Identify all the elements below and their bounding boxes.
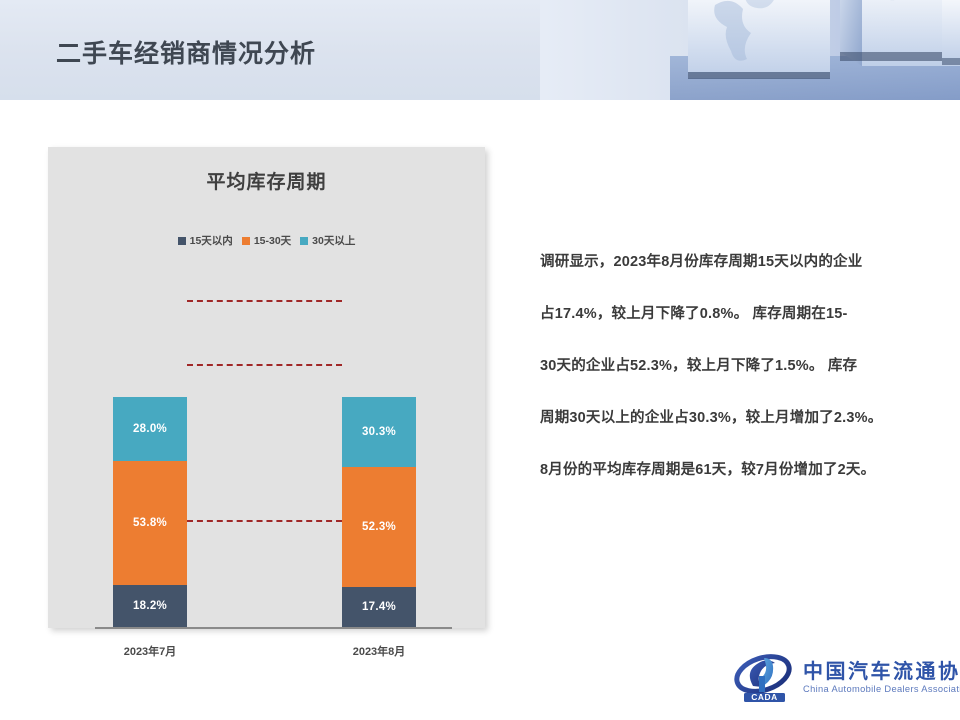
segment-within-15-days-2023-07[interactable]: 18.2% [113, 585, 187, 627]
cada-emblem-icon: CADA [733, 652, 795, 704]
x-axis-line [95, 627, 452, 629]
narrative-line-2: 占17.4%，较上月下降了0.8%。 库存周期在15- [540, 300, 940, 328]
x-axis-label-2023-08: 2023年8月 [309, 643, 449, 659]
connector-line-top [187, 300, 342, 302]
legend-label-over-30-days: 30天以上 [312, 233, 355, 248]
segment-over-30-days-2023-08[interactable]: 30.3% [342, 397, 416, 467]
stacked-bar-2023-08[interactable]: 30.3% 52.3% 17.4% [342, 397, 416, 627]
legend-item-15-to-30-days[interactable]: 15-30天 [242, 233, 291, 248]
slide: 二手车经销商情况分析 平均库存周期 15天以内 15-30天 30天以上 [0, 0, 960, 720]
legend-item-within-15-days[interactable]: 15天以内 [178, 233, 233, 248]
cada-logo-text: 中国汽车流通协会 China Automobile Dealers Associ… [803, 661, 960, 696]
segment-over-30-days-2023-07[interactable]: 28.0% [113, 397, 187, 461]
x-axis-label-2023-07: 2023年7月 [80, 643, 220, 659]
segment-15-to-30-days-2023-08[interactable]: 52.3% [342, 467, 416, 587]
narrative-text-block: 调研显示，2023年8月份库存周期15天以内的企业 占17.4%，较上月下降了0… [540, 248, 940, 484]
narrative-line-5: 8月份的平均库存周期是61天，较7月份增加了2天。 [540, 456, 940, 484]
legend-label-within-15-days: 15天以内 [190, 233, 233, 248]
legend-swatch-15-to-30-days [242, 237, 250, 245]
connector-line-orange-teal [187, 364, 342, 366]
cada-logo: CADA 中国汽车流通协会 China Automobile Dealers A… [733, 650, 943, 706]
legend-swatch-over-30-days [300, 237, 308, 245]
segment-within-15-days-2023-08[interactable]: 17.4% [342, 587, 416, 627]
header-banner-image [540, 0, 960, 100]
legend-swatch-within-15-days [178, 237, 186, 245]
narrative-line-1: 调研显示，2023年8月份库存周期15天以内的企业 [540, 248, 940, 276]
cada-name-en: China Automobile Dealers Association [803, 683, 960, 696]
stacked-bar-2023-07[interactable]: 28.0% 53.8% 18.2% [113, 397, 187, 627]
segment-15-to-30-days-2023-07[interactable]: 53.8% [113, 461, 187, 585]
connector-line-navy-orange [187, 520, 342, 522]
chart-legend: 15天以内 15-30天 30天以上 [48, 233, 485, 248]
plot-area: 28.0% 53.8% 18.2% 30.3% 52.3% 17.4% 2023… [95, 300, 452, 673]
cada-name-cn: 中国汽车流通协会 [803, 661, 960, 683]
legend-item-over-30-days[interactable]: 30天以上 [300, 233, 355, 248]
slide-header: 二手车经销商情况分析 [0, 0, 960, 100]
page-title: 二手车经销商情况分析 [56, 34, 316, 70]
legend-label-15-to-30-days: 15-30天 [254, 233, 291, 248]
svg-text:CADA: CADA [751, 692, 778, 702]
narrative-line-3: 30天的企业占52.3%，较上月下降了1.5%。 库存 [540, 352, 940, 380]
narrative-line-4: 周期30天以上的企业占30.3%，较上月增加了2.3%。 [540, 404, 940, 432]
chart-panel: 平均库存周期 15天以内 15-30天 30天以上 28.0% [48, 147, 485, 628]
chart-title: 平均库存周期 [48, 167, 485, 194]
